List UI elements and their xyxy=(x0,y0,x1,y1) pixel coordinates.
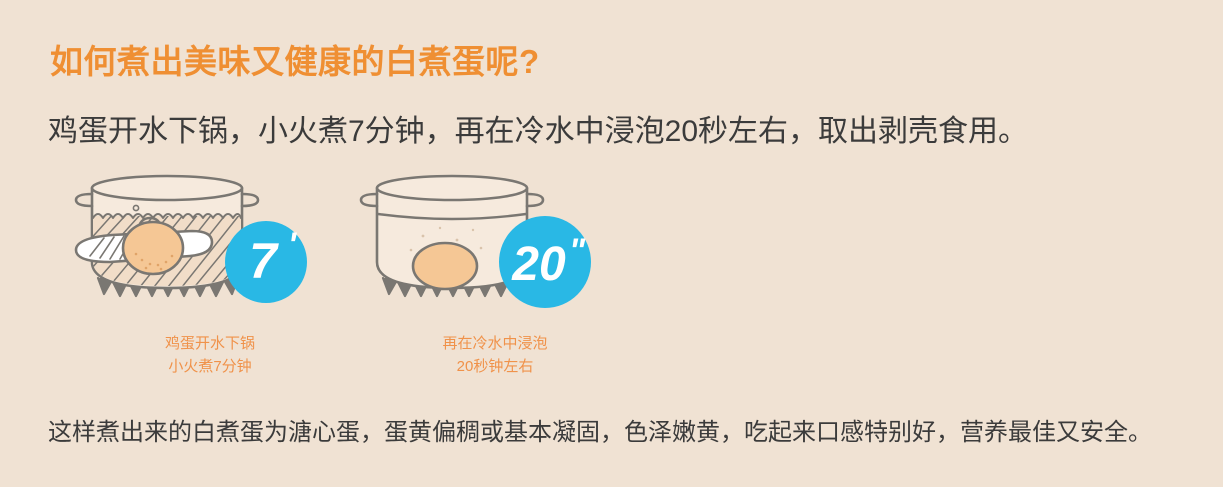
caption-line-1: 鸡蛋开水下锅 xyxy=(60,332,360,355)
pot-rim xyxy=(92,176,242,200)
step-caption: 再在冷水中浸泡 20秒钟左右 xyxy=(345,332,645,378)
badge-unit: " xyxy=(569,232,586,270)
pot-boiling-illustration: 7 ' xyxy=(60,170,360,320)
caption-line-2: 小火煮7分钟 xyxy=(60,355,360,378)
footer-note: 这样煮出来的白煮蛋为溏心蛋，蛋黄偏稠或基本凝固，色泽嫩黄，吃起来口感特别好，营养… xyxy=(48,415,1152,451)
step-cool: 20 " 再在冷水中浸泡 20秒钟左右 xyxy=(345,170,645,390)
step-boil: 7 ' 鸡蛋开水下锅 小火煮7分钟 xyxy=(60,170,360,390)
badge-value: 7 xyxy=(249,233,279,289)
egg-shape xyxy=(123,222,183,274)
pot-cold-water-illustration: 20 " xyxy=(345,170,645,320)
steps-container: 7 ' 鸡蛋开水下锅 小火煮7分钟 xyxy=(0,170,1223,390)
timer-badge-7: 7 ' xyxy=(225,221,307,303)
infographic-page: 如何煮出美味又健康的白煮蛋呢? 鸡蛋开水下锅，小火煮7分钟，再在冷水中浸泡20秒… xyxy=(0,0,1223,487)
lead-paragraph: 鸡蛋开水下锅，小火煮7分钟，再在冷水中浸泡20秒左右，取出剥壳食用。 xyxy=(48,110,1028,154)
pot-handle-left xyxy=(361,194,377,206)
timer-badge-20: 20 " xyxy=(499,216,591,308)
pot-handle-right xyxy=(527,194,543,206)
caption-line-2: 20秒钟左右 xyxy=(345,355,645,378)
step-caption: 鸡蛋开水下锅 小火煮7分钟 xyxy=(60,332,360,378)
badge-value: 20 xyxy=(511,238,566,291)
egg-shape xyxy=(413,243,477,289)
caption-line-1: 再在冷水中浸泡 xyxy=(345,332,645,355)
page-title: 如何煮出美味又健康的白煮蛋呢? xyxy=(50,41,540,83)
pot-handle-right xyxy=(242,194,258,206)
pot-rim xyxy=(377,176,527,200)
pot-handle-left xyxy=(76,194,92,206)
